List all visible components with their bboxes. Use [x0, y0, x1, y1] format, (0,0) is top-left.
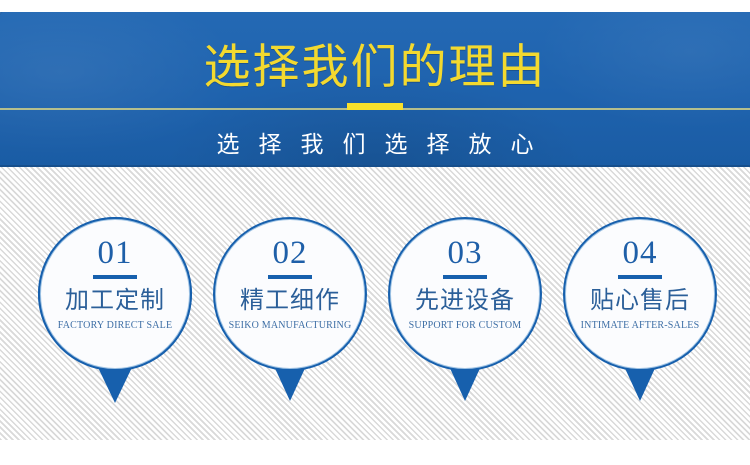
badge-underline	[93, 275, 137, 279]
badge-content: 02 精工细作 SEIKO MANUFACTURING	[215, 219, 365, 369]
badge-row: 01 加工定制 FACTORY DIRECT SALE 02 精工细作 SEIK…	[0, 167, 750, 440]
bottom-white-strip	[0, 440, 750, 465]
header-banner: 选择我们的理由 选择我们选择放心	[0, 12, 750, 167]
badge-title-cn: 精工细作	[215, 288, 365, 315]
badge-title-en: SEIKO MANUFACTURING	[215, 320, 365, 332]
promo-banner-page: 选择我们的理由 选择我们选择放心 01 加工定制 FACTORY DIRECT …	[0, 0, 750, 465]
badge-title-cn: 先进设备	[390, 288, 540, 315]
badge-title-cn: 加工定制	[40, 288, 190, 315]
top-white-strip	[0, 0, 750, 12]
badge-title-cn: 贴心售后	[565, 288, 715, 315]
badge-title-en: SUPPORT FOR CUSTOM	[390, 320, 540, 332]
badge-number: 04	[565, 236, 715, 270]
badge-content: 01 加工定制 FACTORY DIRECT SALE	[40, 219, 190, 369]
badge-number: 01	[40, 236, 190, 270]
banner-title: 选择我们的理由	[0, 38, 750, 98]
badge-number: 03	[390, 236, 540, 270]
badge-title-en: FACTORY DIRECT SALE	[40, 320, 190, 332]
badge-content: 04 贴心售后 INTIMATE AFTER-SALES	[565, 219, 715, 369]
banner-divider-dash	[347, 103, 403, 110]
badge-content: 03 先进设备 SUPPORT FOR CUSTOM	[390, 219, 540, 369]
badge-number: 02	[215, 236, 365, 270]
badge-item-04[interactable]: 04 贴心售后 INTIMATE AFTER-SALES	[561, 215, 719, 405]
banner-subtitle: 选择我们选择放心	[0, 124, 750, 166]
badge-item-01[interactable]: 01 加工定制 FACTORY DIRECT SALE	[36, 215, 194, 405]
badge-item-03[interactable]: 03 先进设备 SUPPORT FOR CUSTOM	[386, 215, 544, 405]
badge-underline	[618, 275, 662, 279]
badge-item-02[interactable]: 02 精工细作 SEIKO MANUFACTURING	[211, 215, 369, 405]
badge-title-en: INTIMATE AFTER-SALES	[565, 320, 715, 332]
badge-underline	[268, 275, 312, 279]
badge-underline	[443, 275, 487, 279]
